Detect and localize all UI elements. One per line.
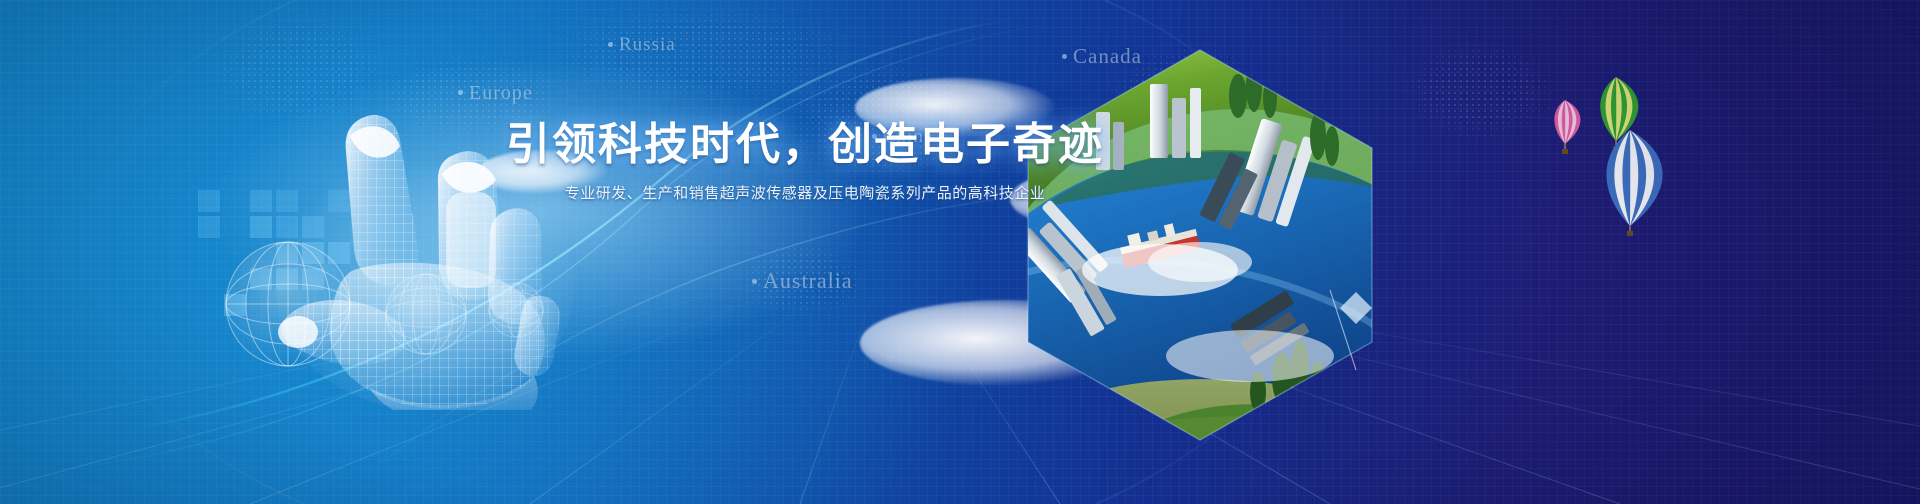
map-label-text: Russia [619,34,676,55]
page-title: 引领科技时代，创造电子奇迹 [495,120,1115,169]
balloon-pink [1545,98,1585,160]
page-subtitle: 专业研发、生产和销售超声波传感器及压电陶瓷系列产品的高科技企业 [495,182,1115,203]
map-label-australia: Australia [752,268,853,294]
balloon-blue [1590,128,1670,242]
hero-text-block: 引领科技时代，创造电子奇迹 专业研发、生产和销售超声波传感器及压电陶瓷系列产品的… [495,120,1115,203]
map-label-dot-icon [608,42,613,47]
map-label-text: Australia [763,268,853,293]
map-label-dot-icon [752,279,757,284]
balloon-basket [1562,149,1568,154]
hero-banner: RussiaEuropeChinaCanadaAustralia [0,0,1920,504]
hexagon-globe-illustration [1000,40,1400,460]
map-label-russia: Russia [608,34,676,56]
balloon-basket [1627,231,1633,236]
